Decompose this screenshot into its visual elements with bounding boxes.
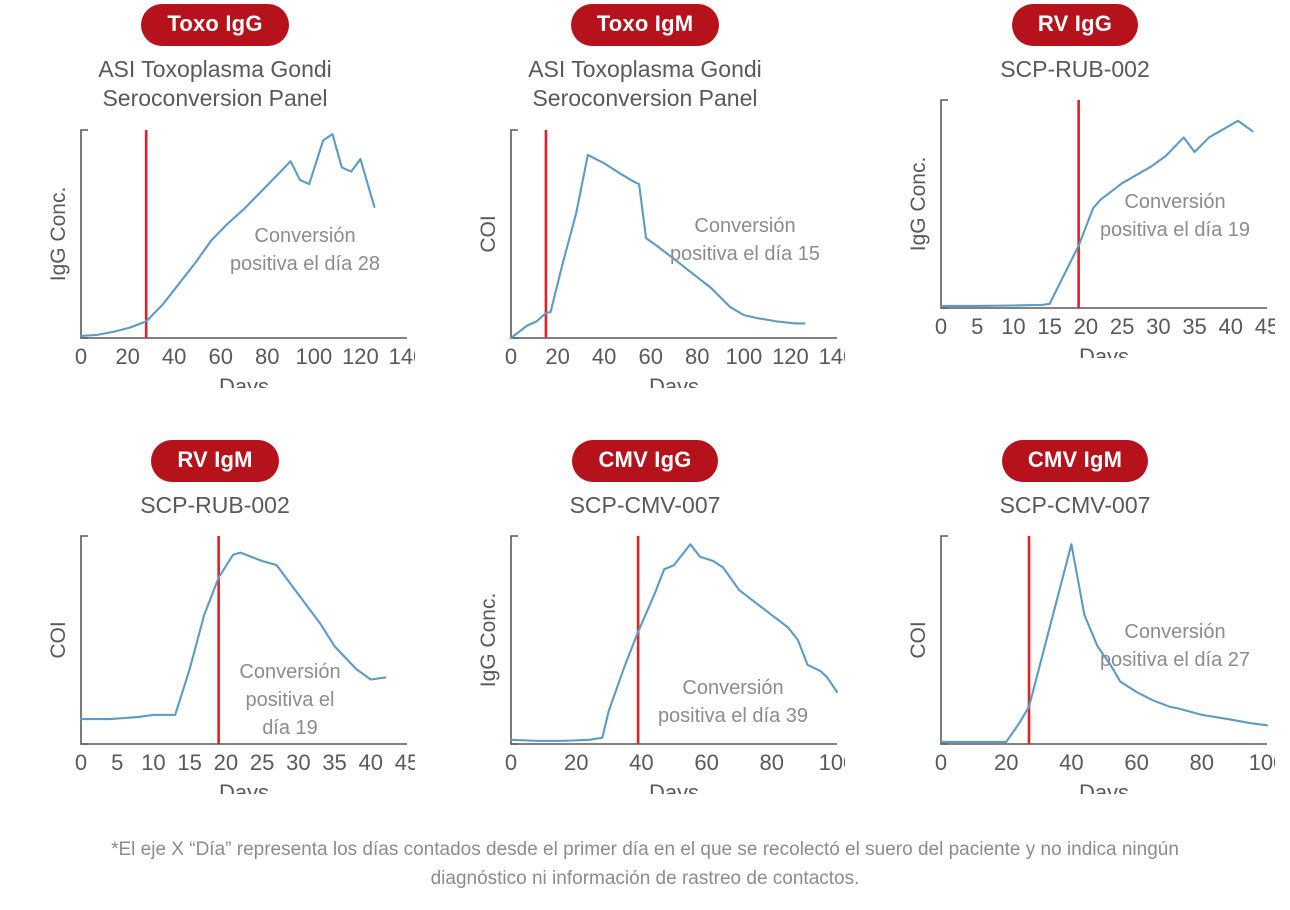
- y-axis-label: IgG Conc.: [907, 157, 930, 252]
- badge-toxo-igm: Toxo IgM: [571, 4, 720, 46]
- plot-cmv-igm: COI020406080100DaysConversiónpositiva el…: [875, 526, 1275, 830]
- subtitle-toxo-igg: ASI Toxoplasma Gondi Seroconversion Pane…: [98, 55, 332, 114]
- x-tick-label: 100: [819, 750, 845, 775]
- x-tick-label: 80: [760, 750, 784, 775]
- chart-svg-toxo-igm: COI020406080100120140DaysConversiónposit…: [445, 120, 845, 388]
- y-axis-label: COI: [907, 622, 930, 659]
- y-axis: [81, 536, 88, 744]
- x-tick-label: 20: [564, 750, 588, 775]
- data-series-line: [81, 553, 385, 719]
- annotation-line: Conversión: [239, 661, 340, 683]
- x-tick-label: 0: [505, 344, 517, 369]
- annotation-line: Conversión: [254, 225, 355, 247]
- y-axis-label: IgG Conc.: [47, 187, 70, 282]
- x-tick-label: 0: [935, 314, 947, 339]
- subtitle-rv-igg: SCP-RUB-002: [1000, 55, 1150, 84]
- x-tick-label: 0: [75, 750, 87, 775]
- x-tick-label: 100: [725, 344, 762, 369]
- annotation-line: Conversión: [1124, 191, 1225, 213]
- panel-toxo-igm: Toxo IgM ASI Toxoplasma Gondi Seroconver…: [430, 0, 860, 430]
- x-tick-label: 30: [1146, 314, 1170, 339]
- panel-rv-igm: RV IgM SCP-RUB-002 COI051015202530354045…: [0, 430, 430, 830]
- x-tick-label: 140: [389, 344, 415, 369]
- x-tick-label: 80: [1190, 750, 1214, 775]
- poster-root: Toxo IgG ASI Toxoplasma Gondi Seroconver…: [0, 0, 1290, 910]
- x-tick-label: 40: [1219, 314, 1243, 339]
- x-tick-label: 0: [75, 344, 87, 369]
- annotation-line: positiva el día 39: [658, 705, 808, 727]
- plot-rv-igg: IgG Conc.051015202530354045DaysConversió…: [875, 90, 1275, 430]
- x-tick-label: 20: [1074, 314, 1098, 339]
- y-axis: [941, 536, 948, 744]
- x-tick-label: 60: [208, 344, 232, 369]
- x-tick-label: 120: [772, 344, 809, 369]
- x-tick-label: 25: [1110, 314, 1134, 339]
- chart-svg-cmv-igm: COI020406080100DaysConversiónpositiva el…: [875, 526, 1275, 794]
- x-tick-label: 5: [971, 314, 983, 339]
- badge-rv-igg: RV IgG: [1012, 4, 1138, 46]
- plot-cmv-igg: IgG Conc.020406080100DaysConversiónposit…: [445, 526, 845, 830]
- data-series-line: [941, 121, 1253, 306]
- x-tick-label: 80: [255, 344, 279, 369]
- badge-toxo-igg: Toxo IgG: [141, 4, 288, 46]
- y-axis: [511, 130, 518, 338]
- subtitle-rv-igm: SCP-RUB-002: [140, 491, 290, 520]
- annotation-line: positiva el día 27: [1100, 649, 1250, 671]
- panel-toxo-igg: Toxo IgG ASI Toxoplasma Gondi Seroconver…: [0, 0, 430, 430]
- x-tick-label: 5: [111, 750, 123, 775]
- annotation-line: positiva el: [246, 689, 335, 711]
- x-tick-label: 35: [1182, 314, 1206, 339]
- annotation-line: positiva el día 19: [1100, 219, 1250, 241]
- x-tick-label: 100: [1249, 750, 1275, 775]
- x-tick-label: 40: [592, 344, 616, 369]
- annotation-line: día 19: [262, 717, 318, 739]
- x-axis-label: Days: [219, 374, 269, 388]
- x-tick-label: 35: [322, 750, 346, 775]
- x-tick-label: 45: [1255, 314, 1275, 339]
- x-tick-label: 0: [935, 750, 947, 775]
- x-tick-label: 40: [1059, 750, 1083, 775]
- y-axis-label: COI: [47, 622, 70, 659]
- x-axis-label: Days: [1079, 344, 1129, 358]
- plot-toxo-igm: COI020406080100120140DaysConversiónposit…: [445, 120, 845, 430]
- badge-rv-igm: RV IgM: [151, 440, 278, 482]
- x-tick-label: 120: [342, 344, 379, 369]
- chart-svg-rv-igm: COI051015202530354045DaysConversiónposit…: [15, 526, 415, 794]
- x-tick-label: 15: [177, 750, 201, 775]
- plot-rv-igm: COI051015202530354045DaysConversiónposit…: [15, 526, 415, 830]
- y-axis-label: IgG Conc.: [477, 593, 500, 688]
- badge-cmv-igg: CMV IgG: [572, 440, 717, 482]
- x-tick-label: 80: [685, 344, 709, 369]
- x-tick-label: 25: [250, 750, 274, 775]
- chart-svg-toxo-igg: IgG Conc.020406080100120140DaysConversió…: [15, 120, 415, 388]
- footnote-line-2: diagnóstico ni información de rastreo de…: [14, 865, 1276, 894]
- x-tick-label: 100: [295, 344, 332, 369]
- plot-toxo-igg: IgG Conc.020406080100120140DaysConversió…: [15, 120, 415, 430]
- badge-cmv-igm: CMV IgM: [1002, 440, 1148, 482]
- x-tick-label: 40: [162, 344, 186, 369]
- x-tick-label: 20: [994, 750, 1018, 775]
- x-axis-label: Days: [1079, 780, 1129, 794]
- data-series-line: [941, 545, 1267, 743]
- x-tick-label: 0: [505, 750, 517, 775]
- x-tick-label: 20: [214, 750, 238, 775]
- annotation-line: Conversión: [694, 215, 795, 237]
- x-tick-label: 40: [359, 750, 383, 775]
- x-axis-label: Days: [649, 780, 699, 794]
- y-axis: [81, 130, 88, 338]
- x-axis-label: Days: [649, 374, 699, 388]
- panel-rv-igg: RV IgG SCP-RUB-002 IgG Conc.051015202530…: [860, 0, 1290, 430]
- x-tick-label: 40: [629, 750, 653, 775]
- subtitle-toxo-igm: ASI Toxoplasma Gondi Seroconversion Pane…: [528, 55, 762, 114]
- x-tick-label: 60: [638, 344, 662, 369]
- x-tick-label: 140: [819, 344, 845, 369]
- panel-cmv-igm: CMV IgM SCP-CMV-007 COI020406080100DaysC…: [860, 430, 1290, 830]
- annotation-line: Conversión: [1124, 621, 1225, 643]
- subtitle-cmv-igm: SCP-CMV-007: [1000, 491, 1151, 520]
- annotation-line: Conversión: [682, 677, 783, 699]
- chart-svg-rv-igg: IgG Conc.051015202530354045DaysConversió…: [875, 90, 1275, 358]
- x-tick-label: 15: [1037, 314, 1061, 339]
- x-tick-label: 10: [1001, 314, 1025, 339]
- y-axis: [941, 100, 948, 308]
- chart-grid: Toxo IgG ASI Toxoplasma Gondi Seroconver…: [0, 0, 1290, 830]
- y-axis: [511, 536, 518, 744]
- annotation-line: positiva el día 28: [230, 253, 380, 275]
- x-tick-label: 20: [115, 344, 139, 369]
- footnote: *El eje X “Día” representa los días cont…: [0, 836, 1290, 893]
- x-tick-label: 60: [694, 750, 718, 775]
- panel-cmv-igg: CMV IgG SCP-CMV-007 IgG Conc.02040608010…: [430, 430, 860, 830]
- chart-svg-cmv-igg: IgG Conc.020406080100DaysConversiónposit…: [445, 526, 845, 794]
- x-tick-label: 60: [1124, 750, 1148, 775]
- x-tick-label: 10: [141, 750, 165, 775]
- footnote-line-1: *El eje X “Día” representa los días cont…: [111, 839, 1179, 860]
- x-axis-label: Days: [219, 780, 269, 794]
- subtitle-cmv-igg: SCP-CMV-007: [570, 491, 721, 520]
- y-axis-label: COI: [477, 215, 500, 252]
- x-tick-label: 20: [545, 344, 569, 369]
- x-tick-label: 30: [286, 750, 310, 775]
- x-tick-label: 45: [395, 750, 415, 775]
- annotation-line: positiva el día 15: [670, 243, 820, 265]
